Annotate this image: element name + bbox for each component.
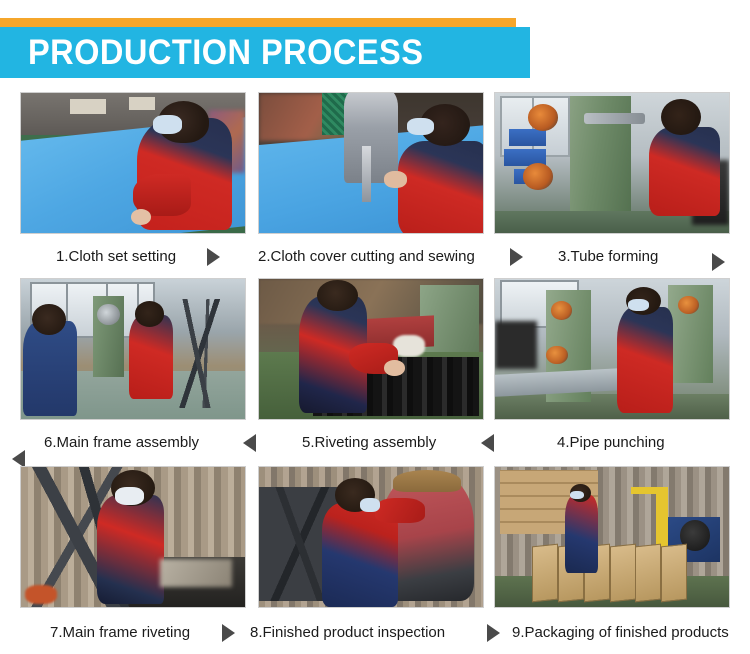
step-8-photo[interactable] [258, 466, 484, 608]
flow-arrow-5-to-6-icon [243, 434, 256, 452]
step-8-caption: 8.Finished product inspection [250, 618, 445, 648]
flow-arrow-2-to-3-icon [510, 248, 523, 266]
step-6-caption: 6.Main frame assembly [44, 428, 199, 458]
process-row-2: 6.Main frame assembly 5.Riveting assembl… [0, 278, 750, 451]
header-orange-accent-bar [0, 18, 516, 27]
flow-arrow-1-to-2-icon [207, 248, 220, 266]
flow-arrow-4-to-5-icon [481, 434, 494, 452]
process-step-7[interactable] [20, 466, 246, 608]
process-step-9[interactable] [494, 466, 730, 608]
step-6-photo[interactable] [20, 278, 246, 420]
flow-arrow-8-to-9-icon [487, 624, 500, 642]
step-5-photo[interactable] [258, 278, 484, 420]
flow-arrow-3-wrap-icon [712, 253, 725, 271]
flow-arrow-7-to-8-icon [222, 624, 235, 642]
step-4-photo[interactable] [494, 278, 730, 420]
step-3-photo[interactable] [494, 92, 730, 234]
page-header: PRODUCTION PROCESS [0, 0, 750, 86]
production-process-page: PRODUCTION PROCESS [0, 0, 750, 654]
step-7-caption: 7.Main frame riveting [50, 618, 190, 648]
step-2-caption: 2.Cloth cover cutting and sewing [258, 242, 475, 272]
process-step-5[interactable] [258, 278, 484, 420]
process-step-3[interactable] [494, 92, 730, 234]
step-4-caption: 4.Pipe punching [557, 428, 665, 458]
process-row-1-captions: 1.Cloth set setting 2.Cloth cover cuttin… [0, 242, 750, 272]
page-title: PRODUCTION PROCESS [28, 31, 474, 75]
process-step-8[interactable] [258, 466, 484, 608]
step-9-caption: 9.Packaging of finished products [512, 618, 729, 648]
process-step-1[interactable] [20, 92, 246, 234]
process-step-4[interactable] [494, 278, 730, 420]
step-1-caption: 1.Cloth set setting [56, 242, 176, 272]
process-row-1: 1.Cloth set setting 2.Cloth cover cuttin… [0, 92, 750, 265]
step-7-photo[interactable] [20, 466, 246, 608]
step-9-photo[interactable] [494, 466, 730, 608]
step-2-photo[interactable] [258, 92, 484, 234]
process-row-3: 7.Main frame riveting 8.Finished product… [0, 466, 750, 641]
step-5-caption: 5.Riveting assembly [302, 428, 436, 458]
process-row-2-captions: 6.Main frame assembly 5.Riveting assembl… [0, 428, 750, 458]
step-1-photo[interactable] [20, 92, 246, 234]
process-step-2[interactable] [258, 92, 484, 234]
process-step-6[interactable] [20, 278, 246, 420]
process-row-3-captions: 7.Main frame riveting 8.Finished product… [0, 618, 750, 648]
step-3-caption: 3.Tube forming [558, 242, 658, 272]
